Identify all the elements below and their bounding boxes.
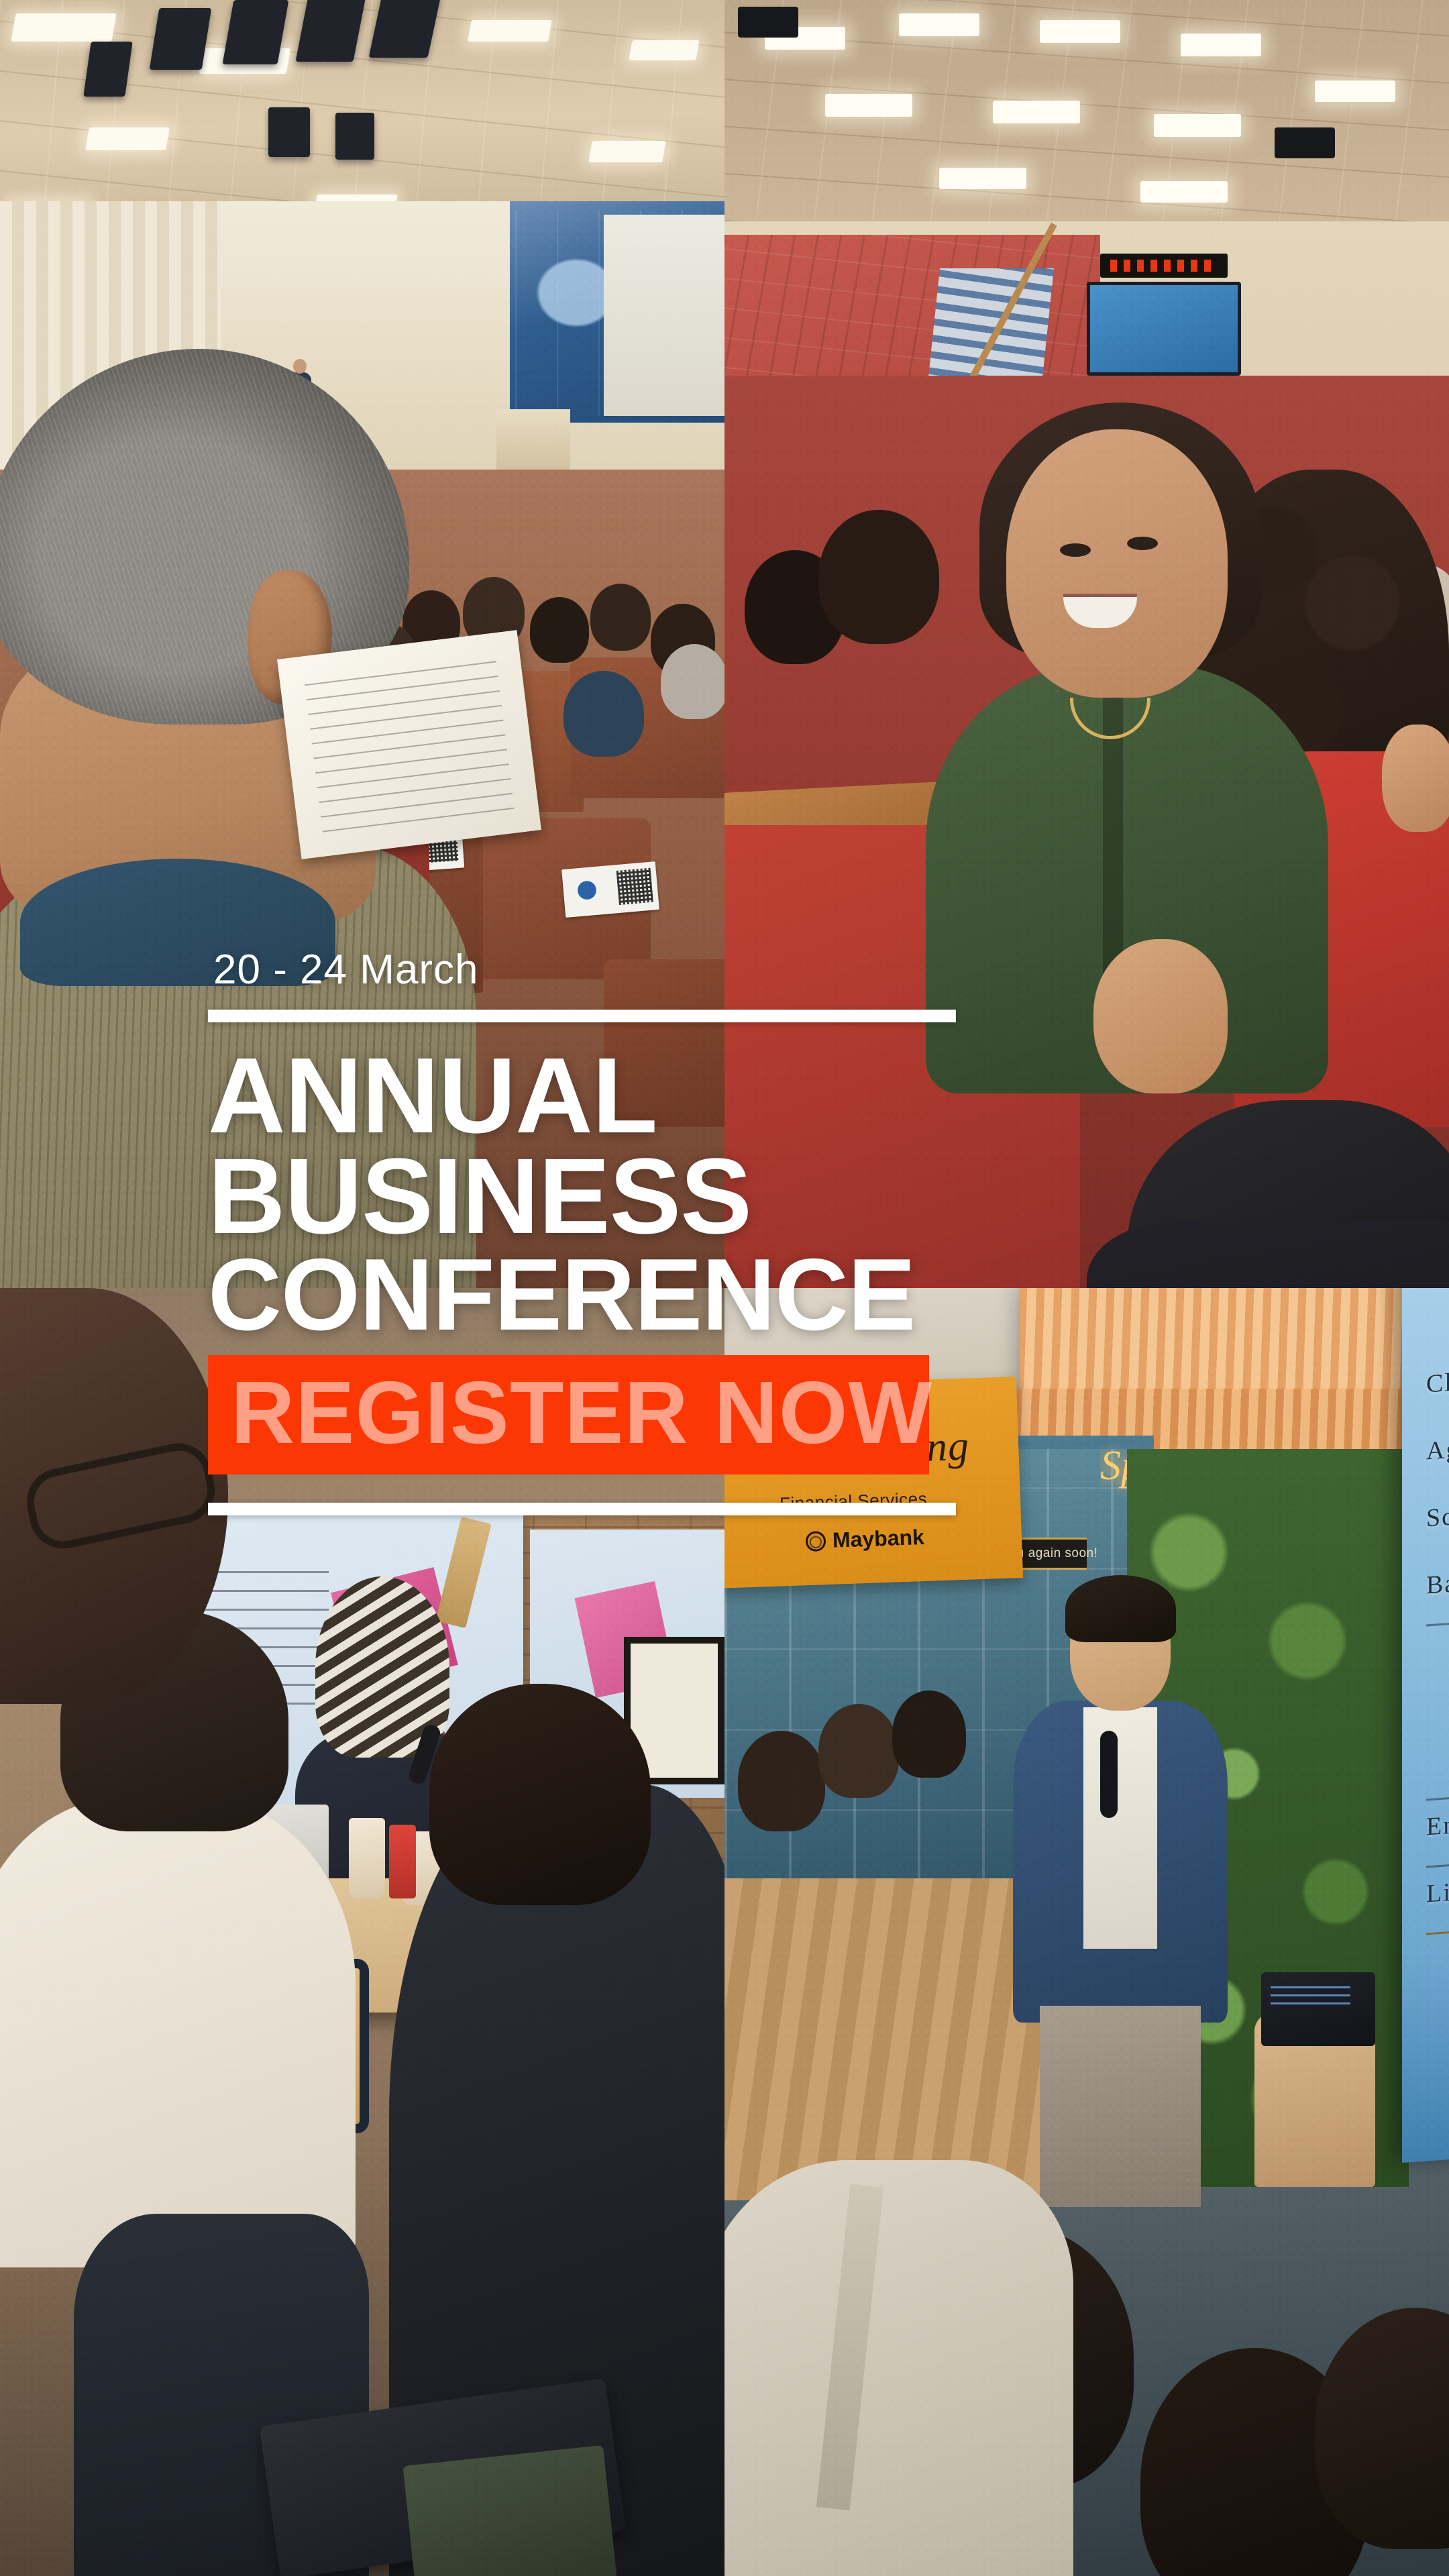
register-now-label: REGISTER NOW <box>231 1368 906 1457</box>
wall-mounted-tv <box>1087 282 1241 376</box>
stage-light <box>335 113 374 160</box>
register-now-button[interactable]: REGISTER NOW <box>208 1355 929 1474</box>
microphone <box>1100 1731 1118 1818</box>
headline-line-2: BUSINESS <box>208 1146 1181 1246</box>
presentation-screen: Class: Sec... Age on 1st School Fees Bas… <box>1402 1288 1449 2163</box>
attendee-shirt <box>0 1798 356 2267</box>
attendee-head <box>429 1684 651 1905</box>
attendee-eye <box>1127 537 1158 550</box>
ceiling-panel-light <box>1181 34 1261 56</box>
maybank-logo-icon <box>805 1531 826 1552</box>
audience-head <box>530 597 589 663</box>
conference-poster: Thank you for visiting. EXIT See you aga… <box>0 0 1449 2576</box>
speaker-hair <box>1065 1575 1176 1642</box>
ceiling-lamp <box>468 20 552 42</box>
brand-name-row: Maybank <box>805 1525 924 1554</box>
ceiling-lamp <box>11 13 116 42</box>
ceiling-lamp <box>85 127 170 150</box>
bystander-head <box>738 1731 825 1831</box>
led-timer-display <box>1100 254 1228 278</box>
ceiling-lamp <box>588 141 666 162</box>
projection-screen <box>604 215 724 416</box>
soda-can <box>389 1825 416 1898</box>
speaker-shirt <box>1083 1707 1157 1949</box>
screen-divider <box>1426 1849 1449 1868</box>
ceiling-projector <box>738 7 798 38</box>
clapping-hands <box>1382 724 1449 832</box>
screen-divider <box>1426 1782 1449 1801</box>
event-speaker <box>1006 1590 1228 2194</box>
ceiling-panel-light <box>1140 181 1228 203</box>
screen-line-3: School Fees <box>1426 1494 1449 1533</box>
audience-head <box>590 584 651 651</box>
audience-head <box>563 671 644 757</box>
screen-line-4: Basis of Eli <box>1426 1561 1449 1600</box>
stage-light <box>268 107 310 157</box>
audience-head <box>1315 2308 1449 2549</box>
poster-text-overlay: 20 - 24 March ANNUAL BUSINESS CONFERENCE… <box>208 949 1181 1515</box>
audience-head <box>661 644 724 719</box>
screen-divider <box>1426 1917 1449 1935</box>
attendee-face <box>1006 429 1228 698</box>
notebook <box>402 2445 616 2576</box>
ceiling-projector <box>1275 127 1335 158</box>
screen-line-1: Class: Sec... <box>1426 1360 1449 1399</box>
ceiling-lamp <box>629 40 699 60</box>
ceiling-panel-light <box>993 101 1080 123</box>
ceiling-panel-light <box>939 168 1026 189</box>
program-booklet <box>277 630 541 859</box>
screen-divider <box>1426 1608 1449 1627</box>
screen-line-6: English Language <box>1426 1798 1449 1841</box>
ceiling-panel-light <box>1154 114 1241 137</box>
divider-bottom <box>208 1503 956 1515</box>
event-dates: 20 - 24 March <box>213 949 1181 991</box>
page-title: ANNUAL BUSINESS CONFERENCE <box>208 1045 1181 1343</box>
divider-top <box>208 1010 956 1022</box>
jacket-strap <box>816 2184 883 2510</box>
attendee-eye <box>1060 543 1091 557</box>
headline-line-1: ANNUAL <box>208 1045 1181 1146</box>
ceiling-panel-light <box>825 94 912 117</box>
screen-line-7: Literature <box>1426 1872 1449 1909</box>
bystander-head <box>892 1690 966 1778</box>
headline-line-3: CONFERENCE <box>208 1247 1181 1343</box>
tablet-device <box>1261 1972 1375 2046</box>
ceiling-panel-light <box>899 13 979 36</box>
stage-light <box>150 8 212 70</box>
bystander-head <box>818 1704 899 1798</box>
foreground-attendee-jacket <box>724 2160 1073 2576</box>
screen-line-2: Age on 1st <box>1426 1428 1449 1466</box>
ceiling-panel-light <box>1315 80 1395 102</box>
stage-light <box>223 0 289 64</box>
seat-qr-handout <box>561 861 659 918</box>
brand-name: Maybank <box>832 1525 924 1553</box>
ceiling-panel-light <box>1040 20 1120 43</box>
crowd-head <box>818 510 939 644</box>
stage-light <box>83 42 133 97</box>
